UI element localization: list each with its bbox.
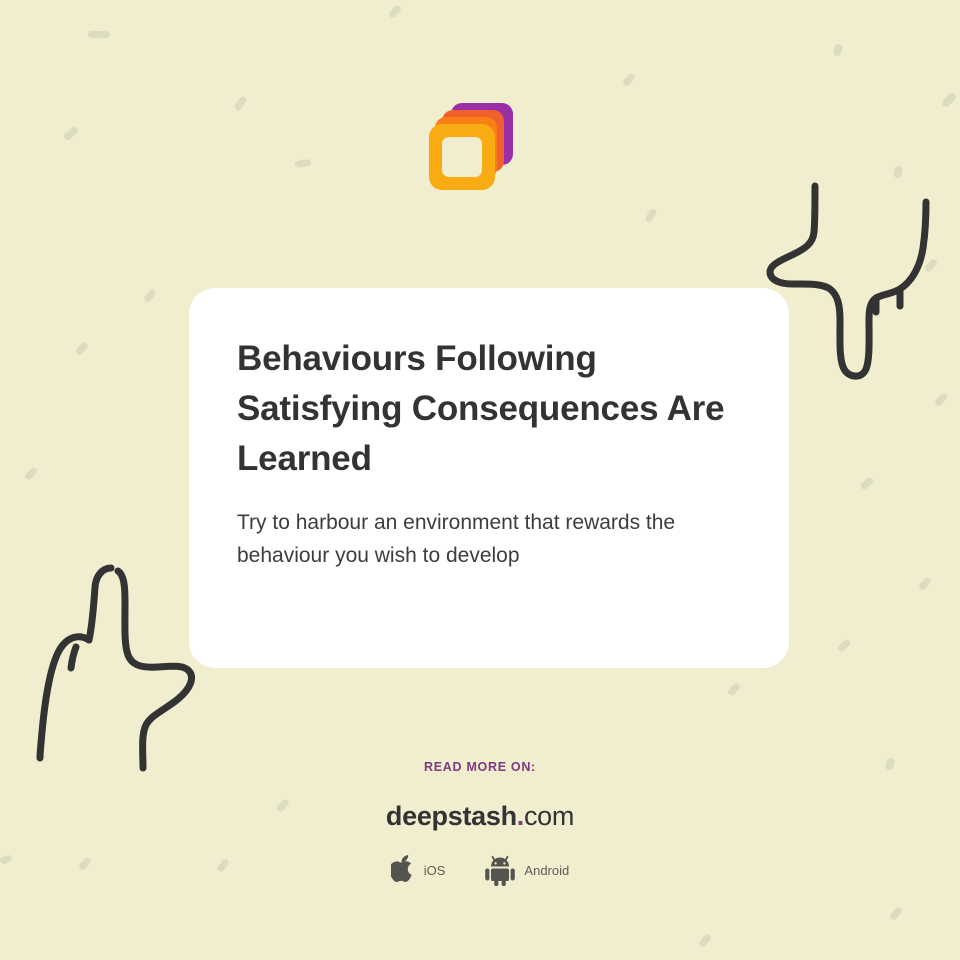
brand-wordmark[interactable]: deepstash.com xyxy=(0,801,960,832)
confetti-dash xyxy=(233,95,247,111)
ios-label: iOS xyxy=(424,863,446,878)
confetti-dash xyxy=(836,638,851,653)
idea-card: Behaviours Following Satisfying Conseque… xyxy=(189,288,789,668)
confetti-dash xyxy=(924,258,938,273)
confetti-dash xyxy=(727,682,742,697)
card-subtitle: Try to harbour an environment that rewar… xyxy=(237,507,741,573)
confetti-dash xyxy=(75,341,89,356)
confetti-dash xyxy=(295,159,312,168)
logo-layer-amber xyxy=(429,124,495,190)
confetti-dash xyxy=(941,91,958,108)
ios-badge[interactable]: iOS xyxy=(391,855,446,886)
confetti-dash xyxy=(832,43,843,57)
confetti-dash xyxy=(622,72,636,87)
confetti-dash xyxy=(893,165,903,178)
app-store-badges: iOS xyxy=(0,855,960,886)
deepstash-logo-icon[interactable] xyxy=(424,98,524,198)
confetti-dash xyxy=(698,933,713,948)
android-label: Android xyxy=(524,863,569,878)
confetti-dash xyxy=(24,466,39,481)
confetti-dash xyxy=(889,906,903,921)
android-badge[interactable]: Android xyxy=(483,855,569,886)
brand-dot: . xyxy=(517,801,524,831)
footer: READ MORE ON: deepstash.com iOS xyxy=(0,760,960,886)
confetti-dash xyxy=(388,4,403,19)
pointing-hand-bottom-left-icon xyxy=(18,552,218,787)
apple-icon xyxy=(391,855,417,886)
brand-name: deepstash xyxy=(386,801,517,831)
confetti-dash xyxy=(918,576,932,591)
brand-tld: com xyxy=(524,801,574,831)
confetti-dash xyxy=(644,208,658,223)
confetti-dash xyxy=(859,476,874,491)
poster-canvas: Behaviours Following Satisfying Conseque… xyxy=(0,0,960,960)
android-icon xyxy=(483,855,517,886)
read-more-label: READ MORE ON: xyxy=(0,760,960,774)
confetti-dash xyxy=(143,288,157,303)
confetti-dash xyxy=(934,392,949,407)
card-title: Behaviours Following Satisfying Conseque… xyxy=(237,334,741,484)
confetti-dash xyxy=(63,126,80,142)
confetti-dash xyxy=(88,31,110,39)
